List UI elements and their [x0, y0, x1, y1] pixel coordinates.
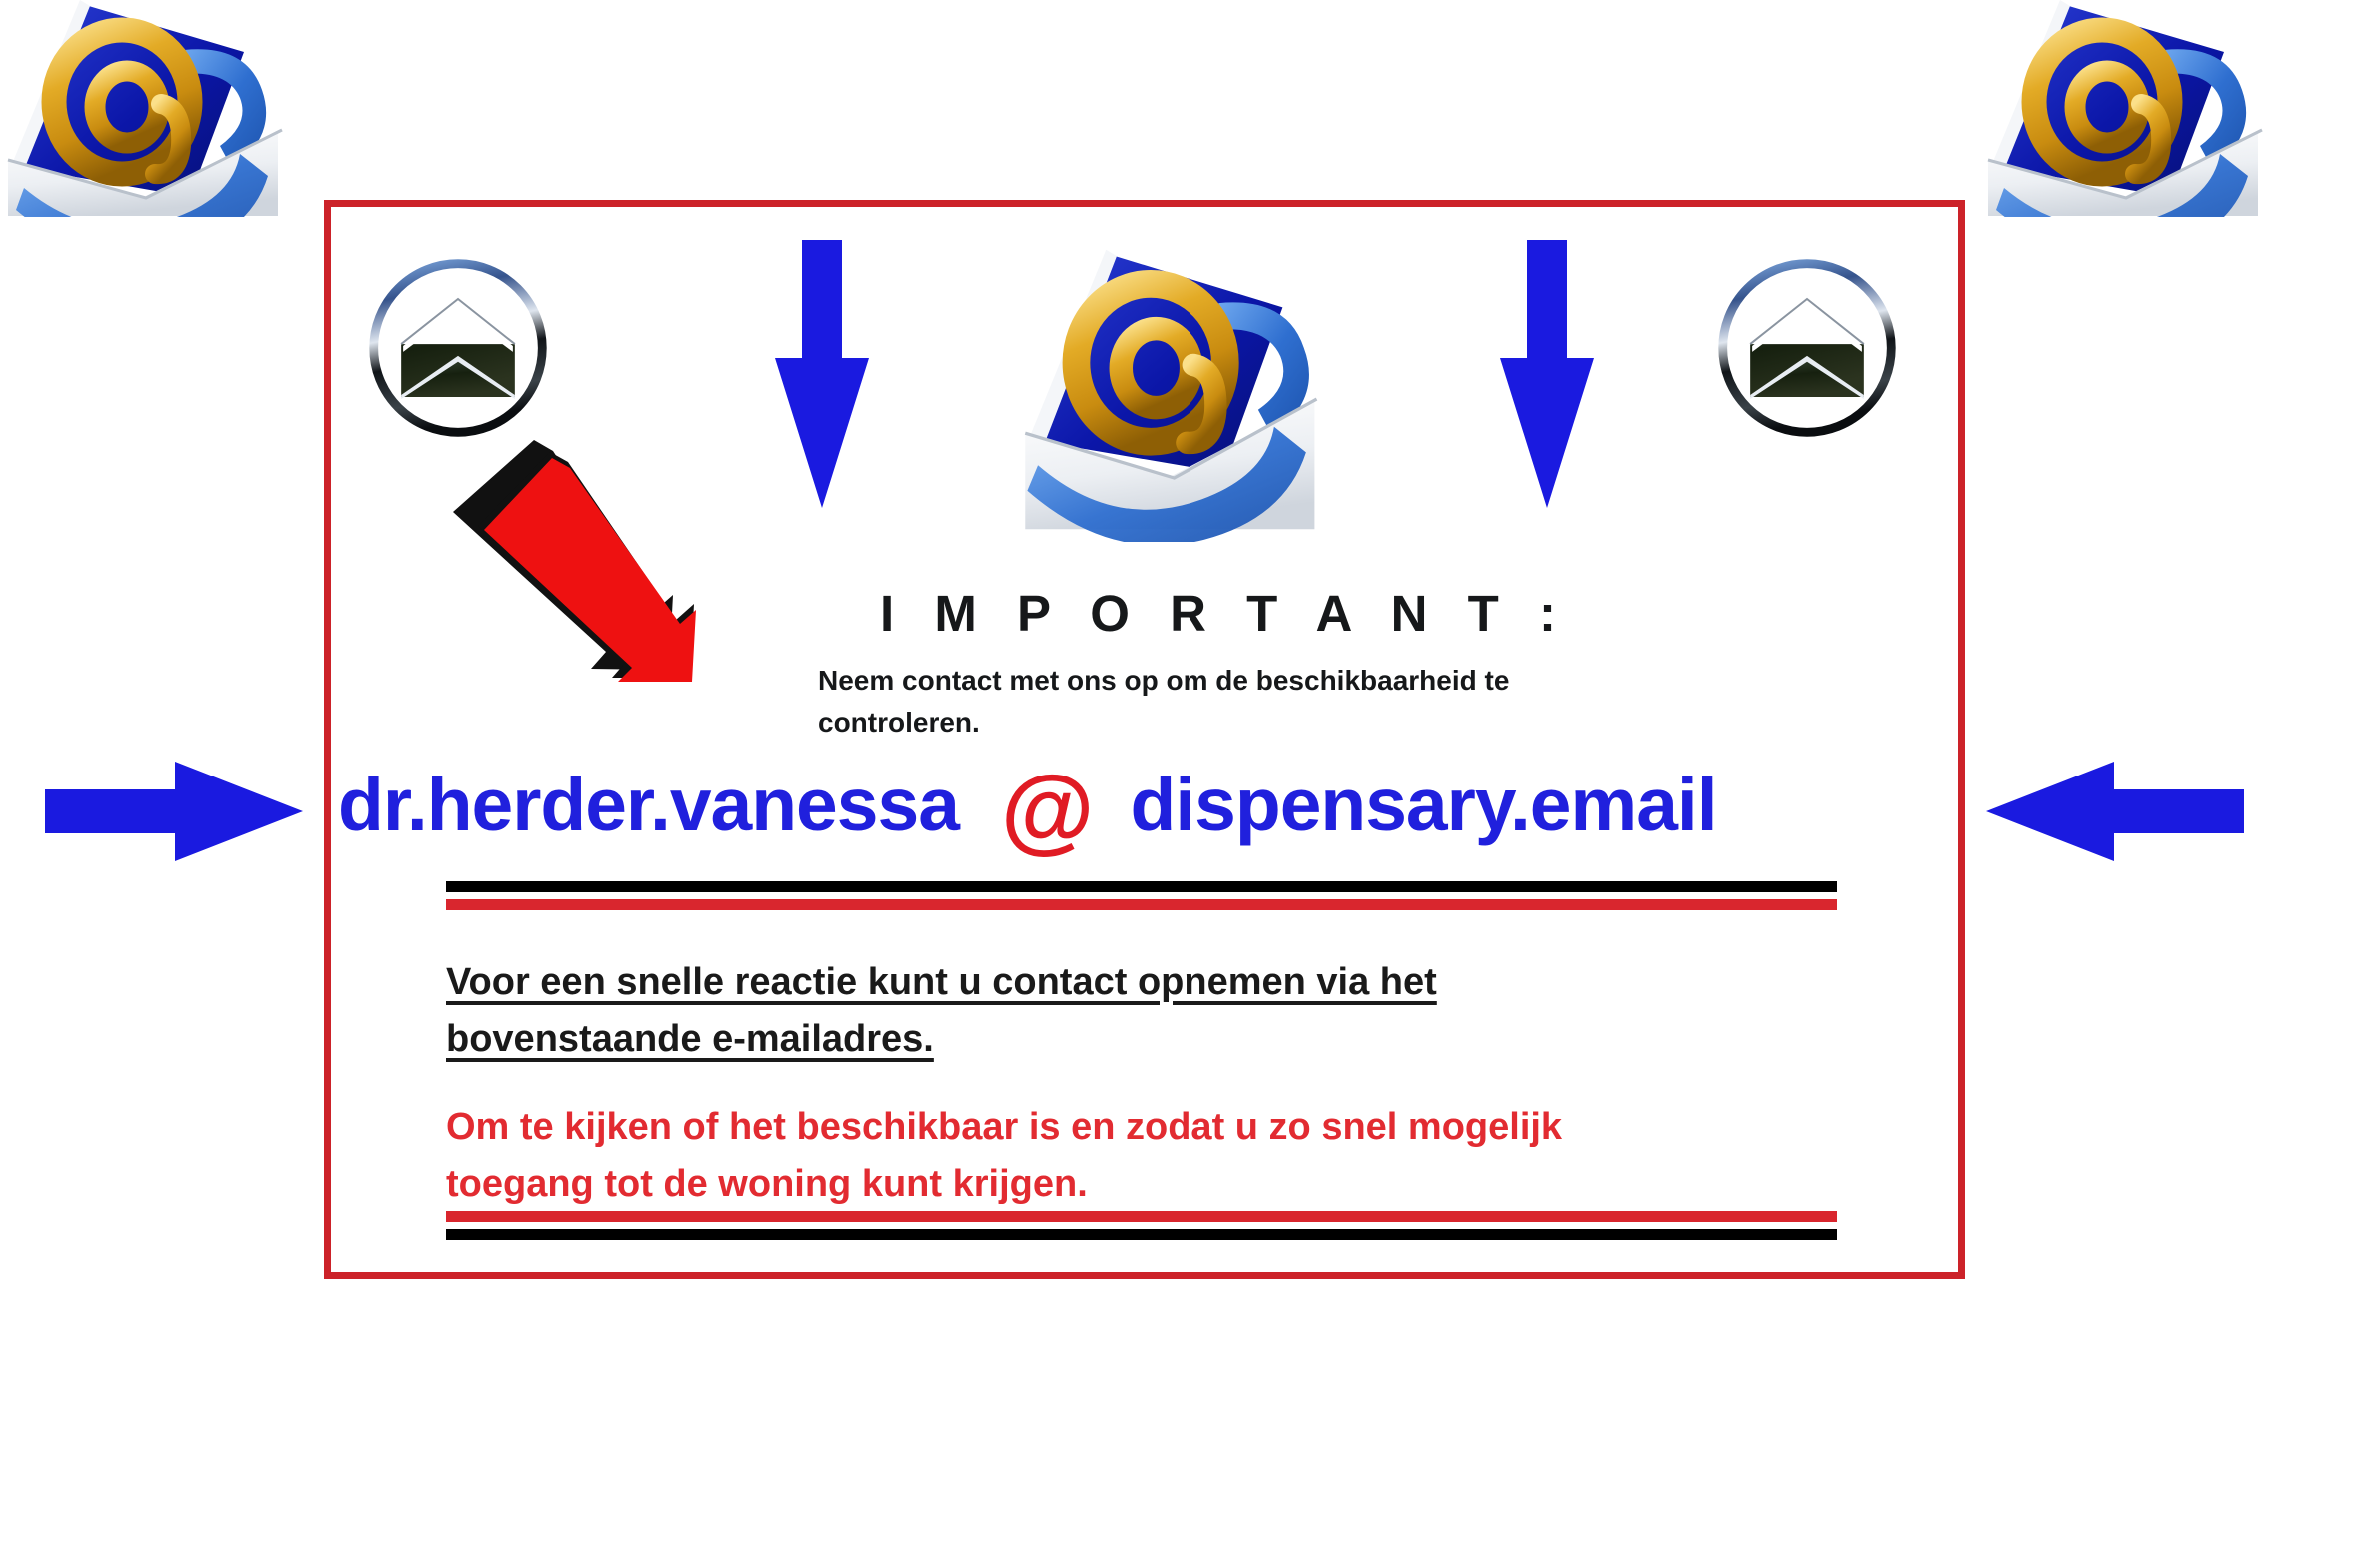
at-envelope-icon	[0, 0, 284, 217]
email-address-row[interactable]: dr.herder.vanessa @ dispensary.email	[330, 745, 1959, 864]
divider-bar-black	[446, 881, 1837, 892]
circle-envelope-icon	[360, 250, 556, 446]
blue-down-arrow-icon	[1497, 240, 1597, 510]
at-symbol: @	[1001, 773, 1095, 849]
blue-right-arrow-icon	[45, 762, 305, 861]
divider-gap	[446, 1222, 1837, 1229]
divider-gap	[446, 892, 1837, 899]
blue-down-arrow-icon	[772, 240, 872, 510]
divider-bottom	[446, 1211, 1837, 1240]
red-diagonal-arrow-icon	[440, 430, 740, 685]
poster-canvas: I M P O R T A N T : Neem contact met ons…	[0, 0, 2380, 1552]
response-instruction-label: Voor een snelle reactie kunt u contact o…	[446, 961, 1437, 1060]
important-heading: I M P O R T A N T :	[880, 584, 1569, 643]
response-instruction-text: Voor een snelle reactie kunt u contact o…	[446, 954, 1625, 1068]
blue-left-arrow-icon	[1984, 762, 2244, 861]
divider-bar-red	[446, 1211, 1837, 1222]
contact-note-text: Neem contact met ons op om de beschikbaa…	[818, 660, 1617, 744]
divider-top	[446, 881, 1837, 910]
availability-instruction-text: Om te kijken of het beschikbaar is en zo…	[446, 1099, 1695, 1213]
email-local-part[interactable]: dr.herder.vanessa	[338, 762, 959, 847]
divider-bar-black	[446, 1229, 1837, 1240]
divider-bar-red	[446, 899, 1837, 910]
circle-envelope-icon	[1709, 250, 1905, 446]
email-domain-part[interactable]: dispensary.email	[1131, 762, 1717, 847]
at-envelope-icon	[1974, 0, 2264, 217]
